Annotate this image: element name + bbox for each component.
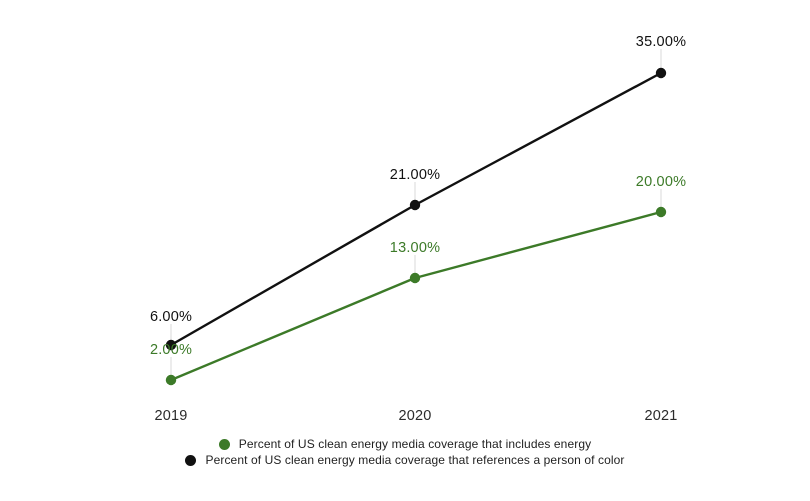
x-axis-tick-2021: 2021 [644,408,677,424]
legend-item-label: Percent of US clean energy media coverag… [239,438,591,450]
series-polylines [171,73,661,380]
x-axis-tick-2019: 2019 [154,408,187,424]
data-point-label: 20.00% [636,174,686,190]
data-point-label: 21.00% [390,167,440,183]
x-axis-tick-2020: 2020 [398,408,431,424]
data-point-label: 35.00% [636,34,686,50]
data-point-marker[interactable] [656,68,666,78]
data-point-marker[interactable] [410,200,420,210]
legend-swatch-black [185,455,196,466]
data-point-marker[interactable] [410,273,420,283]
chart-legend: Percent of US clean energy media coverag… [0,438,810,466]
legend-item[interactable]: Percent of US clean energy media coverag… [219,438,591,450]
series-markers [166,68,666,385]
legend-item-label: Percent of US clean energy media coverag… [205,454,624,466]
series-line-green [171,212,661,380]
line-chart: 201920202021 2.00%13.00%20.00%6.00%21.00… [0,0,810,501]
data-point-marker[interactable] [656,207,666,217]
data-point-label: 6.00% [150,309,192,325]
label-leader-lines [171,49,661,380]
legend-swatch-green [219,439,230,450]
legend-item[interactable]: Percent of US clean energy media coverag… [185,454,624,466]
data-point-label: 13.00% [390,240,440,256]
data-point-label: 2.00% [150,342,192,358]
data-point-marker[interactable] [166,375,176,385]
